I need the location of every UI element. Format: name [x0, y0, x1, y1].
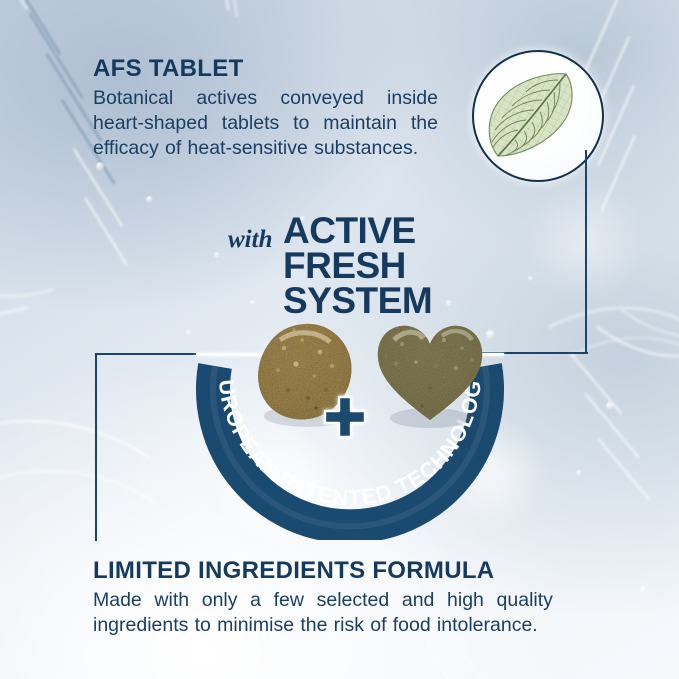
with-word: with	[228, 226, 272, 254]
paragraph-line: Botanicalactivesconveyedinside	[93, 86, 438, 111]
afs-tablet-paragraph: Botanicalactivesconveyedinside heart-sha…	[93, 86, 438, 160]
emblem-title-line-1: ACTIVE	[283, 214, 432, 249]
plus-icon	[322, 394, 368, 440]
paragraph-line: efficacyofheat-sensitivesubstances.	[93, 136, 438, 161]
afs-tablet-heading: AFS TABLET	[93, 55, 244, 83]
limited-ingredients-paragraph: Madewithonlyafewselectedandhighquality i…	[93, 588, 553, 638]
leaf-connector-vertical	[585, 150, 587, 354]
paragraph-line: ingredientstominimisetheriskoffoodintole…	[93, 613, 553, 638]
paragraph-line: heart-shapedtabletstomaintainthe	[93, 111, 438, 136]
limited-ingredients-heading: LIMITED INGREDIENTS FORMULA	[93, 557, 494, 585]
formula-connector-vertical	[95, 353, 97, 541]
paragraph-line: Madewithonlyafewselectedandhighquality	[93, 588, 553, 613]
leaf-icon	[474, 52, 602, 180]
heart-tablet-image	[372, 318, 488, 430]
infographic-canvas: AFS TABLET Botanicalactivesconveyedinsid…	[0, 0, 679, 679]
